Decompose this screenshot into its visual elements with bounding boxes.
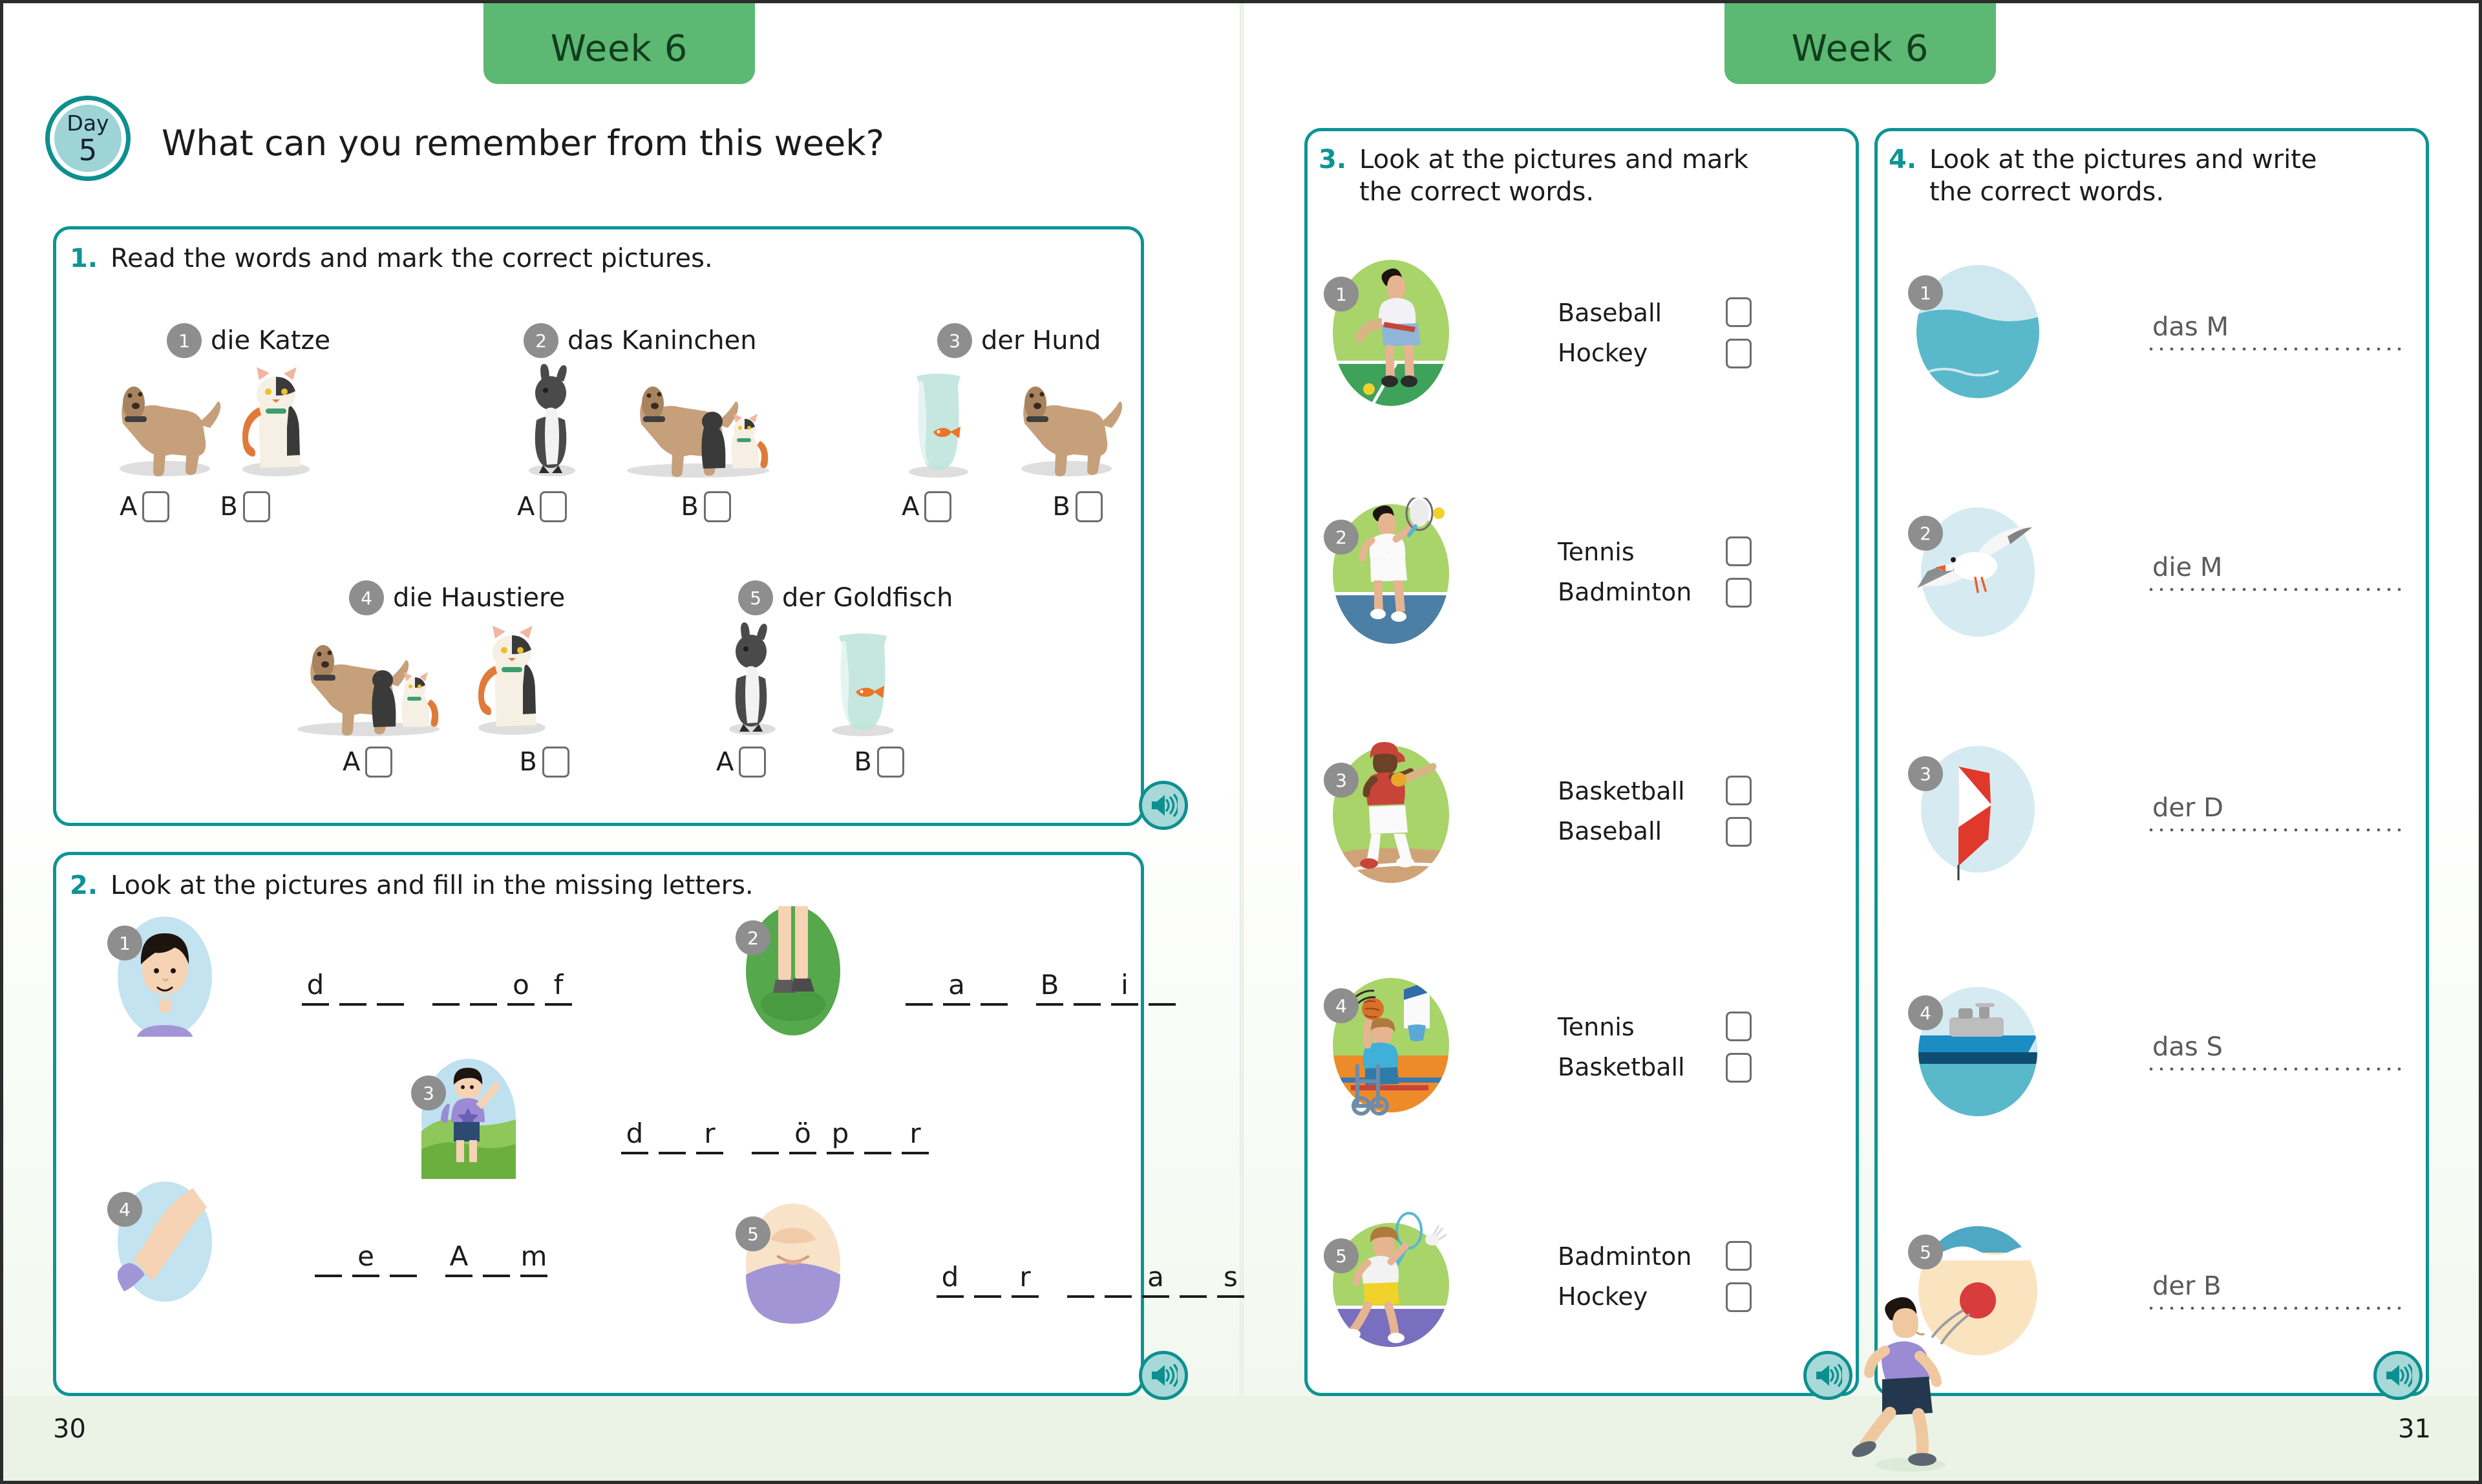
ex3-item-1: 1 Baseball Hockey [1331,259,1752,407]
week-tab-right[interactable]: Week 6 [1724,0,1996,84]
ex2-item-5-slot: a [1141,1262,1170,1298]
ex2-item-5-slot [1179,1262,1207,1298]
ex3-item-2-number: 2 [1324,520,1359,555]
exercise-4-number: 4. [1889,143,1916,208]
ex4-item-2-writing-line[interactable] [2146,588,2404,591]
ex2-item-3-slot: ö [789,1118,817,1154]
ex3-item-2-option-2-label: Badminton [1558,578,1726,606]
ex2-item-4-blanks[interactable]: e A m [314,1241,548,1277]
ex1-item-2-label: 2 das Kaninchen [524,323,757,358]
ex1-item-5-label: 5 der Goldfisch [738,580,953,615]
ex3-item-3-checkbox-2[interactable] [1726,817,1752,847]
ex3-item-3-option-2-label: Baseball [1558,817,1726,845]
ex2-item-1-slot: d [301,970,330,1006]
exercise-4-instruction-line1: Look at the pictures and write [1929,145,2317,175]
ex3-item-5-option-2-label: Hockey [1558,1282,1726,1311]
ex3-item-5-picture: 5 [1331,1202,1454,1351]
ex1-item-1-option-b-label: B [220,492,237,522]
ex3-item-2-checkbox-2[interactable] [1726,578,1752,608]
ex1-item-2-picture-a[interactable] [511,362,595,478]
ex4-item-1-picture: 1 [1913,264,2042,399]
ex2-item-1-number: 1 [107,926,142,960]
ex2-item-4-group-1: e [314,1241,418,1277]
day-badge: Day 5 [45,96,131,181]
ex4-item-2: 2 die M [1913,504,2404,640]
ex4-item-2-answer[interactable]: die M [2146,553,2404,591]
exercise-1-audio-button[interactable] [1139,781,1188,830]
page-title: What can you remember from this week? [162,123,884,164]
ex4-item-2-prefix: die M [2146,553,2404,582]
ex1-item-4-options: A B [343,747,569,778]
page-number-left: 30 [53,1414,86,1444]
exercise-3-instruction-line1: Look at the pictures and mark [1359,145,1748,175]
ex2-item-3-slot [751,1118,780,1154]
ex4-item-4-picture: 4 [1913,984,2042,1119]
ex1-item-2-number: 2 [524,323,558,358]
ex2-item-5-picture: 5 [746,1203,840,1324]
ex3-item-5-checkboxes [1726,1241,1752,1312]
ex2-item-3-slot: p [826,1118,854,1154]
ex1-item-5-options: A B [716,747,904,778]
ex2-item-2-slot [980,970,1008,1006]
ex2-item-4-slot: m [520,1241,548,1277]
ex2-item-3-slot [864,1118,892,1154]
ex2-item-3-group-1: d r [620,1118,724,1154]
ex3-item-1-words: Baseball Hockey [1558,299,1726,367]
exercise-4-instruction: Look at the pictures and write the corre… [1929,143,2317,208]
exercise-1-number: 1. [70,242,98,275]
ex3-item-5-words: Badminton Hockey [1558,1242,1726,1311]
ex4-item-3-answer[interactable]: der D [2146,793,2404,832]
ex4-item-4-prefix: das S [2146,1032,2404,1062]
ex1-item-3-checkbox-a[interactable] [924,491,951,522]
exercise-4-heading: 4. Look at the pictures and write the co… [1889,143,2399,208]
ex4-item-5-answer[interactable]: der B [2146,1271,2404,1310]
ex1-item-3-word: der Hund [981,326,1101,355]
ex1-item-5-checkbox-a[interactable] [739,747,766,778]
ex3-item-4-checkboxes [1726,1012,1752,1083]
ex1-item-2-picture-b[interactable] [608,362,789,478]
screenshot-bottom-edge [0,1481,2482,1484]
ex2-item-5-slot [973,1262,1002,1298]
ex2-item-3-picture: 3 [421,1059,516,1179]
week-tab-right-label: Week 6 [1792,28,1929,70]
ex3-item-2-picture: 2 [1331,498,1454,646]
workbook-spread: Week 6 Week 6 Day 5 What can you remembe… [0,0,2482,1484]
ex2-item-2-blanks[interactable]: a B i [905,970,1176,1006]
ex2-item-4-number: 4 [107,1192,142,1227]
day-badge-number: 5 [79,136,98,165]
ex1-item-5-checkbox-b[interactable] [877,747,904,778]
ex1-item-1-picture-a[interactable] [100,362,223,478]
ex1-item-5-word: der Goldfisch [782,583,953,613]
ex1-item-1-number: 1 [167,323,202,358]
ex2-item-3-slot: r [695,1118,724,1154]
ex3-item-1-checkbox-2[interactable] [1726,339,1752,368]
ex2-item-3-slot [658,1118,686,1154]
ex1-item-4-label: 4 die Haustiere [349,580,565,615]
exercise-3-number: 3. [1319,143,1346,208]
ex2-item-4-slot [314,1241,343,1277]
ex1-item-5-option-a-label: A [716,747,734,777]
ex3-item-4-option-1-label: Tennis [1558,1013,1726,1041]
ex2-item-4-slot: e [352,1241,380,1277]
ex1-item-2-checkbox-b[interactable] [704,491,731,522]
ex1-item-1-options: A B [120,491,270,522]
ex4-item-4-number: 4 [1908,995,1943,1030]
ex4-item-2-number: 2 [1908,516,1943,551]
ex2-item-2-slot: B [1035,970,1064,1006]
ex4-item-1-writing-line[interactable] [2146,347,2404,351]
ex4-item-1-prefix: das M [2146,312,2404,342]
ex1-item-1-option-a-label: A [120,492,137,522]
exercise-2-audio-button[interactable] [1139,1351,1188,1400]
ex3-item-2: 2 Tennis Badminton [1331,498,1752,646]
speaker-audio-icon [1149,1362,1178,1388]
ex3-item-4: 4 Tennis Basketball [1331,973,1752,1121]
ex4-item-3-writing-line[interactable] [2146,828,2404,832]
ex1-item-4-option-a-label: A [343,747,360,777]
ex3-item-5-checkbox-1[interactable] [1726,1241,1752,1271]
ex1-item-3-picture-a[interactable] [893,362,984,478]
ex3-item-5-number: 5 [1324,1238,1359,1273]
ex4-item-4: 4 das S [1913,984,2404,1119]
ex3-item-3-option-1-label: Basketball [1558,777,1726,805]
ex1-item-4-checkbox-b[interactable] [542,747,569,778]
ex3-item-4-checkbox-1[interactable] [1726,1012,1752,1041]
exercise-2-number: 2. [70,869,98,902]
exercise-1-heading: 1. Read the words and mark the correct p… [70,242,713,275]
ex4-item-3-picture: 3 [1913,745,2042,880]
ex3-item-1-picture: 1 [1331,259,1454,407]
ex2-item-4-slot [482,1241,511,1277]
ex2-item-5-number: 5 [736,1216,770,1251]
ex2-item-2-number: 2 [736,920,770,955]
ex1-item-3-checkbox-b[interactable] [1076,491,1103,522]
exercise-3-heading: 3. Look at the pictures and mark the cor… [1319,143,1829,208]
exercise-4-audio-button[interactable] [2373,1351,2423,1400]
ex3-item-3-words: Basketball Baseball [1558,777,1726,845]
ex3-item-3-picture: 3 [1331,737,1454,885]
ex3-item-4-picture: 4 [1331,973,1454,1121]
exercise-3-instruction-line2: the correct words. [1359,177,1594,207]
ex2-item-4-picture: 4 [118,1182,212,1302]
page-number-right: 31 [2398,1414,2431,1444]
ex2-item-5-slot: s [1216,1262,1245,1298]
ex2-item-5-slot: d [936,1262,964,1298]
ex2-item-1-slot [432,970,460,1006]
exercise-3-instruction: Look at the pictures and mark the correc… [1359,143,1748,208]
ex2-item-4-group-2: A m [445,1241,548,1277]
book-spine [1240,0,1244,1396]
ex1-item-2-option-b-label: B [681,492,698,522]
ex1-item-3-number: 3 [937,323,972,358]
ex2-item-3-number: 3 [411,1076,446,1110]
exercise-2-instruction: Look at the pictures and fill in the mis… [111,869,754,902]
ex2-item-4-slot: A [445,1241,473,1277]
ex3-item-1-checkboxes [1726,297,1752,368]
week-tab-left[interactable]: Week 6 [483,0,755,84]
ex2-item-1-group-2: o f [432,970,573,1006]
ex2-item-1-blanks[interactable]: d o f [301,970,573,1006]
ex4-item-2-picture: 2 [1913,504,2042,640]
ex1-item-1-picture-b[interactable] [223,362,326,478]
ex3-item-2-words: Tennis Badminton [1558,538,1726,606]
week-tab-left-label: Week 6 [551,28,688,70]
screenshot-left-edge [0,0,3,1484]
ex2-item-5-slot [1066,1262,1095,1298]
ex2-item-2-slot: i [1110,970,1139,1006]
ex1-item-4-option-b-label: B [519,747,536,777]
ex2-item-1-slot [339,970,367,1006]
ex2-item-2-picture: 2 [746,906,840,1035]
ex2-item-3-group-2: ö p r [751,1118,929,1154]
ex4-item-5-writing-line[interactable] [2146,1306,2404,1310]
ex4-item-4-answer[interactable]: das S [2146,1032,2404,1071]
ex3-item-4-option-2-label: Basketball [1558,1053,1726,1081]
ex2-item-2-slot [1148,970,1176,1006]
ex2-item-2-slot [905,970,933,1006]
ex4-item-5-number: 5 [1908,1235,1943,1269]
ex2-item-5-group-2: a s [1066,1262,1245,1298]
exercise-4-instruction-line2: the correct words. [1929,177,2164,207]
ex3-item-3-checkbox-1[interactable] [1726,776,1752,805]
ex1-item-1-checkbox-a[interactable] [142,491,169,522]
ex4-item-1-answer[interactable]: das M [2146,312,2404,351]
ex2-item-1-picture: 1 [118,917,212,1037]
ex2-item-5-slot: r [1011,1262,1039,1298]
ex1-item-3-label: 3 der Hund [937,323,1101,358]
ex1-item-2-option-a-label: A [517,492,535,522]
ex2-item-3-slot: d [620,1118,649,1154]
ex1-item-5-number: 5 [738,580,773,615]
ex4-item-1-number: 1 [1908,275,1943,310]
ex3-item-5: 5 Badminton Hockey [1331,1202,1752,1351]
ex4-item-5-prefix: der B [2146,1271,2404,1301]
speaker-audio-icon [1149,792,1178,818]
ex1-item-5-option-b-label: B [854,747,871,777]
ex1-item-3-picture-b[interactable] [1002,362,1125,478]
speaker-audio-icon [2384,1362,2412,1388]
ex1-item-3-option-b-label: B [1052,492,1070,522]
ex1-item-2-options: A B [517,491,731,522]
exercise-2-box [53,852,1144,1396]
ex3-item-1-number: 1 [1324,277,1359,312]
ex2-item-1-slot [469,970,498,1006]
ex3-item-5-option-1-label: Badminton [1558,1242,1726,1271]
ex3-item-3-number: 3 [1324,763,1359,798]
ex1-item-1-label: 1 die Katze [167,323,330,358]
ex1-item-5-picture-a[interactable] [711,620,795,737]
ex1-item-4-picture-b[interactable] [459,620,562,737]
ex3-item-2-checkbox-1[interactable] [1726,536,1752,566]
ex3-item-4-number: 4 [1324,988,1359,1023]
ex3-item-3-checkboxes [1726,776,1752,847]
ex3-item-4-words: Tennis Basketball [1558,1013,1726,1081]
ex2-item-5-blanks[interactable]: d r a s [936,1262,1245,1298]
ex1-item-1-word: die Katze [211,326,330,355]
ex1-item-1-checkbox-b[interactable] [243,491,270,522]
ex3-item-5-checkbox-2[interactable] [1726,1282,1752,1312]
exercise-2-heading: 2. Look at the pictures and fill in the … [70,869,754,902]
ex3-item-1-checkbox-1[interactable] [1726,297,1752,327]
ex1-item-4-checkbox-a[interactable] [365,747,392,778]
ex3-item-2-checkboxes [1726,536,1752,608]
ex1-item-4-picture-a[interactable] [278,620,459,737]
ex1-item-4-word: die Haustiere [393,583,565,613]
ex3-item-3: 3 Basketball Baseball [1331,737,1752,885]
ex2-item-3-blanks[interactable]: d r ö p r [620,1118,929,1154]
ex3-item-4-checkbox-2[interactable] [1726,1053,1752,1083]
ex2-item-1-slot: o [507,970,535,1006]
day-badge-word: Day [67,112,109,134]
ex2-item-1-slot [376,970,405,1006]
ex2-item-5-slot [1104,1262,1132,1298]
ex2-item-4-slot [389,1241,418,1277]
ex2-item-2-group-1: a [905,970,1008,1006]
ex4-item-3: 3 der D [1913,745,2404,880]
ex1-item-5-picture-b[interactable] [814,620,911,737]
exercise-1-instruction: Read the words and mark the correct pict… [111,242,713,275]
ex2-item-1-group-1: d [301,970,405,1006]
ex1-item-2-word: das Kaninchen [567,326,757,355]
ex2-item-5-group-1: d r [936,1262,1039,1298]
running-boy-illustration [1834,1286,1996,1480]
ex4-item-4-writing-line[interactable] [2146,1067,2404,1071]
ex1-item-2-checkbox-a[interactable] [540,491,567,522]
ex1-item-4-number: 4 [349,580,384,615]
ex3-item-2-option-1-label: Tennis [1558,538,1726,566]
ex1-item-3-options: A B [902,491,1103,522]
screenshot-right-edge [2479,0,2482,1484]
ex2-item-2-group-2: B i [1035,970,1176,1006]
ex2-item-3-slot: r [901,1118,929,1154]
ex2-item-2-slot: a [942,970,971,1006]
exercise-1-box [53,226,1144,826]
ex4-item-1: 1 das M [1913,264,2404,399]
ex2-item-1-slot: f [544,970,573,1006]
ex1-item-3-option-a-label: A [902,492,919,522]
page-bottom-band [0,1396,2482,1484]
ex3-item-1-option-2-label: Hockey [1558,339,1726,367]
ex4-item-3-number: 3 [1908,756,1943,791]
ex3-item-1-option-1-label: Baseball [1558,299,1726,327]
ex4-item-3-prefix: der D [2146,793,2404,823]
screenshot-top-edge [0,0,2482,3]
ex2-item-2-slot [1073,970,1101,1006]
